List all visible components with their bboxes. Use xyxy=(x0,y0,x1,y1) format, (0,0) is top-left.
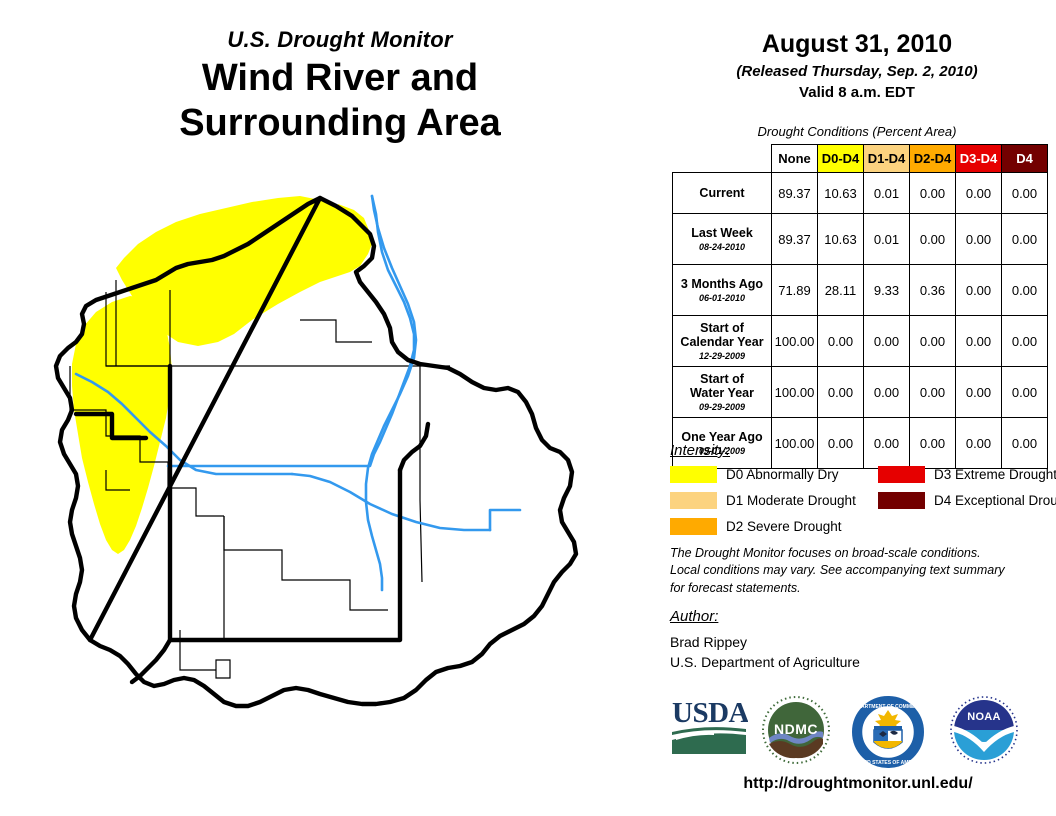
legend-label: D3 Extreme Drought xyxy=(934,467,1056,482)
legend-note-line3: for forecast statements. xyxy=(670,580,1030,597)
table-cell: 0.00 xyxy=(818,367,864,418)
legend-label: D1 Moderate Drought xyxy=(726,493,856,508)
release-date: August 31, 2010 xyxy=(666,30,1048,59)
table-cell: 0.00 xyxy=(910,214,956,265)
legend-note-line2: Local conditions may vary. See accompany… xyxy=(670,562,1030,579)
legend-item: D2 Severe Drought xyxy=(670,518,842,535)
table-row: Last Week08-24-201089.3710.630.010.000.0… xyxy=(673,214,1048,265)
table-cell: 100.00 xyxy=(772,367,818,418)
page-title: Wind River and Surrounding Area xyxy=(40,56,640,146)
legend-swatch xyxy=(878,466,925,483)
noaa-logo[interactable]: NOAA xyxy=(948,694,1020,771)
table-row-label-line: 3 Months Ago xyxy=(675,277,769,291)
legend-label: D0 Abnormally Dry xyxy=(726,467,839,482)
region-title-line2: Surrounding Area xyxy=(40,101,640,146)
table-col-header-d3-d4: D3-D4 xyxy=(956,145,1002,173)
usda-logo-svg: USDA xyxy=(670,694,748,756)
legend-note: The Drought Monitor focuses on broad-sca… xyxy=(670,545,1030,597)
table-col-header-d1-d4: D1-D4 xyxy=(864,145,910,173)
author-name: Brad Rippey xyxy=(670,632,1050,652)
legend-swatch xyxy=(670,492,717,509)
table-cell: 0.00 xyxy=(1002,367,1048,418)
table-row-label: Current xyxy=(673,173,772,214)
author-heading: Author: xyxy=(670,608,1050,625)
table-cell: 0.00 xyxy=(910,173,956,214)
legend-label: D4 Exceptional Drought xyxy=(934,493,1056,508)
table-col-header-d2-d4: D2-D4 xyxy=(910,145,956,173)
table-cell: 0.00 xyxy=(864,316,910,367)
logo-row: USDA NDMC xyxy=(666,694,1050,766)
table-cell: 71.89 xyxy=(772,265,818,316)
region-title-line1: Wind River and xyxy=(40,56,640,101)
table-cell: 9.33 xyxy=(864,265,910,316)
table-row-label-line: Start of xyxy=(675,372,769,386)
table-cell: 89.37 xyxy=(772,214,818,265)
table-cell: 0.01 xyxy=(864,214,910,265)
svg-text:NDMC: NDMC xyxy=(774,721,818,737)
table-row-date: 06-01-2010 xyxy=(675,293,769,303)
table-row: Current89.3710.630.010.000.000.00 xyxy=(673,173,1048,214)
valid-line: Valid 8 a.m. EDT xyxy=(666,84,1048,101)
table-cell: 0.00 xyxy=(956,316,1002,367)
table-row: Start ofCalendar Year12-29-2009100.000.0… xyxy=(673,316,1048,367)
intensity-legend: Intensity: D0 Abnormally DryD1 Moderate … xyxy=(670,442,1050,542)
table-cell: 0.00 xyxy=(910,367,956,418)
table-cell: 0.00 xyxy=(1002,214,1048,265)
table-row-label-line: Start of xyxy=(675,321,769,335)
table-cell: 89.37 xyxy=(772,173,818,214)
svg-text:DEPARTMENT OF COMMERCE: DEPARTMENT OF COMMERCE xyxy=(851,704,925,710)
table-cell: 0.00 xyxy=(1002,265,1048,316)
commerce-seal-svg: DEPARTMENT OF COMMERCE UNITED STATES OF … xyxy=(850,694,926,770)
drought-monitor-page: U.S. Drought Monitor Wind River and Surr… xyxy=(0,0,1056,816)
table-row-label-line: Calendar Year xyxy=(675,335,769,349)
legend-item: D4 Exceptional Drought xyxy=(878,492,1056,509)
legend-item: D1 Moderate Drought xyxy=(670,492,856,509)
date-block: August 31, 2010 (Released Thursday, Sep.… xyxy=(666,30,1048,101)
legend-grid: D0 Abnormally DryD1 Moderate DroughtD2 S… xyxy=(670,466,1050,542)
legend-swatch xyxy=(878,492,925,509)
table-cell: 0.36 xyxy=(910,265,956,316)
table-cell: 0.00 xyxy=(910,316,956,367)
title-block: U.S. Drought Monitor Wind River and Surr… xyxy=(40,28,640,146)
website-url[interactable]: http://droughtmonitor.unl.edu/ xyxy=(666,775,1050,793)
table-row-label-line: Current xyxy=(675,186,769,200)
legend-swatch xyxy=(670,466,717,483)
author-block: Author: Brad Rippey U.S. Department of A… xyxy=(670,608,1050,673)
table-cell: 0.00 xyxy=(1002,316,1048,367)
table-col-header-none: None xyxy=(772,145,818,173)
legend-note-line1: The Drought Monitor focuses on broad-sca… xyxy=(670,545,1030,562)
table-cell: 0.00 xyxy=(956,173,1002,214)
table-cell: 0.00 xyxy=(1002,173,1048,214)
svg-text:USDA: USDA xyxy=(672,697,748,729)
legend-label: D2 Severe Drought xyxy=(726,519,842,534)
table-cell: 28.11 xyxy=(818,265,864,316)
table-row-date: 12-29-2009 xyxy=(675,351,769,361)
table-corner-cell xyxy=(673,145,772,173)
table-row-label: Last Week08-24-2010 xyxy=(673,214,772,265)
table-caption: Drought Conditions (Percent Area) xyxy=(666,124,1048,139)
noaa-logo-svg: NOAA xyxy=(948,694,1020,766)
table-row-label-line: Water Year xyxy=(675,386,769,400)
table-cell: 100.00 xyxy=(772,316,818,367)
table-row: Start ofWater Year09-29-2009100.000.000.… xyxy=(673,367,1048,418)
table-cell: 0.00 xyxy=(956,265,1002,316)
svg-text:UNITED STATES OF AMERICA: UNITED STATES OF AMERICA xyxy=(852,760,924,766)
table-cell: 0.00 xyxy=(818,316,864,367)
table-cell: 0.01 xyxy=(864,173,910,214)
table-cell: 0.00 xyxy=(956,367,1002,418)
svg-text:NOAA: NOAA xyxy=(967,711,1001,723)
commerce-seal[interactable]: DEPARTMENT OF COMMERCE UNITED STATES OF … xyxy=(850,694,926,775)
legend-item: D0 Abnormally Dry xyxy=(670,466,839,483)
table-cell: 0.00 xyxy=(864,367,910,418)
table-row-label-line: Last Week xyxy=(675,226,769,240)
author-organization: U.S. Department of Agriculture xyxy=(670,652,1050,672)
table-row-label: 3 Months Ago06-01-2010 xyxy=(673,265,772,316)
table-row-date: 09-29-2009 xyxy=(675,402,769,412)
table-cell: 10.63 xyxy=(818,173,864,214)
legend-swatch xyxy=(670,518,717,535)
legend-item: D3 Extreme Drought xyxy=(878,466,1056,483)
table-cell: 10.63 xyxy=(818,214,864,265)
drought-map[interactable] xyxy=(20,170,660,800)
usda-logo[interactable]: USDA xyxy=(670,694,748,761)
table-header: NoneD0-D4D1-D4D2-D4D3-D4D4 xyxy=(673,145,1048,173)
drought-map-svg xyxy=(20,170,660,800)
released-line: (Released Thursday, Sep. 2, 2010) xyxy=(666,63,1048,80)
table-header-row: NoneD0-D4D1-D4D2-D4D3-D4D4 xyxy=(673,145,1048,173)
map-d0-areas xyxy=(72,196,372,554)
table-row-date: 08-24-2010 xyxy=(675,242,769,252)
table-row-label: Start ofCalendar Year12-29-2009 xyxy=(673,316,772,367)
program-title: U.S. Drought Monitor xyxy=(40,28,640,52)
table-cell: 0.00 xyxy=(956,214,1002,265)
table-col-header-d4: D4 xyxy=(1002,145,1048,173)
table-row: 3 Months Ago06-01-201071.8928.119.330.36… xyxy=(673,265,1048,316)
intensity-heading: Intensity: xyxy=(670,442,1050,459)
table-col-header-d0-d4: D0-D4 xyxy=(818,145,864,173)
table-body: Current89.3710.630.010.000.000.00Last We… xyxy=(673,173,1048,469)
ndmc-logo[interactable]: NDMC xyxy=(760,694,832,771)
ndmc-logo-svg: NDMC xyxy=(760,694,832,766)
table-row-label: Start ofWater Year09-29-2009 xyxy=(673,367,772,418)
drought-conditions-table: NoneD0-D4D1-D4D2-D4D3-D4D4 Current89.371… xyxy=(672,144,1048,469)
